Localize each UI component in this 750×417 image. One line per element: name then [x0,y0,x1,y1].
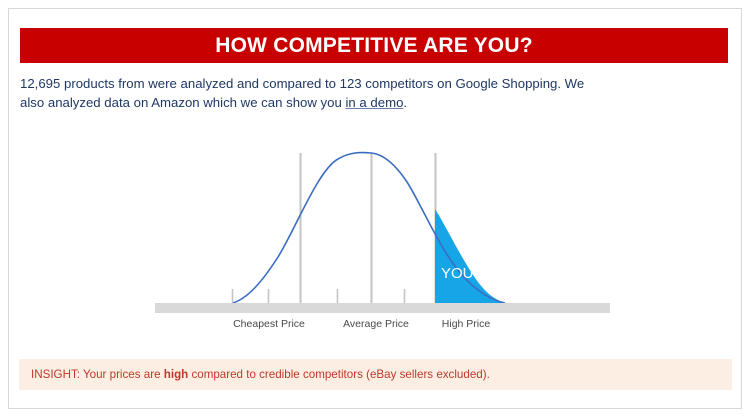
intro-paragraph: 12,695 products from were analyzed and c… [20,74,600,112]
you-shaded-region [435,209,505,303]
x-tick-label-high: High Price [442,318,491,330]
chart-baseline [155,303,610,313]
x-tick-label-average: Average Price [343,318,409,330]
insight-prefix: INSIGHT: [31,368,80,381]
intro-line-2-before: also analyzed data on Amazon which we ca… [20,95,346,110]
header-banner: HOW COMPETITIVE ARE YOU? [20,28,728,63]
insight-text-before: Your prices are [80,368,164,381]
price-distribution-chart: YOU Cheapest Price Average Price High Pr… [0,130,750,340]
x-tick-label-cheapest: Cheapest Price [233,318,305,330]
intro-line-1: 12,695 products from were analyzed and c… [20,76,584,91]
intro-line-2-after: . [403,95,407,110]
demo-link[interactable]: in a demo [346,95,404,110]
insight-text: INSIGHT: Your prices are high compared t… [31,368,490,382]
insight-callout: INSIGHT: Your prices are high compared t… [19,359,732,390]
page-title: HOW COMPETITIVE ARE YOU? [215,34,532,58]
slide-page: HOW COMPETITIVE ARE YOU? 12,695 products… [0,0,750,417]
you-label: YOU [441,265,474,282]
insight-emphasis: high [164,368,188,381]
insight-text-after: compared to credible competitors (eBay s… [188,368,490,381]
chart-gridlines [301,153,436,303]
